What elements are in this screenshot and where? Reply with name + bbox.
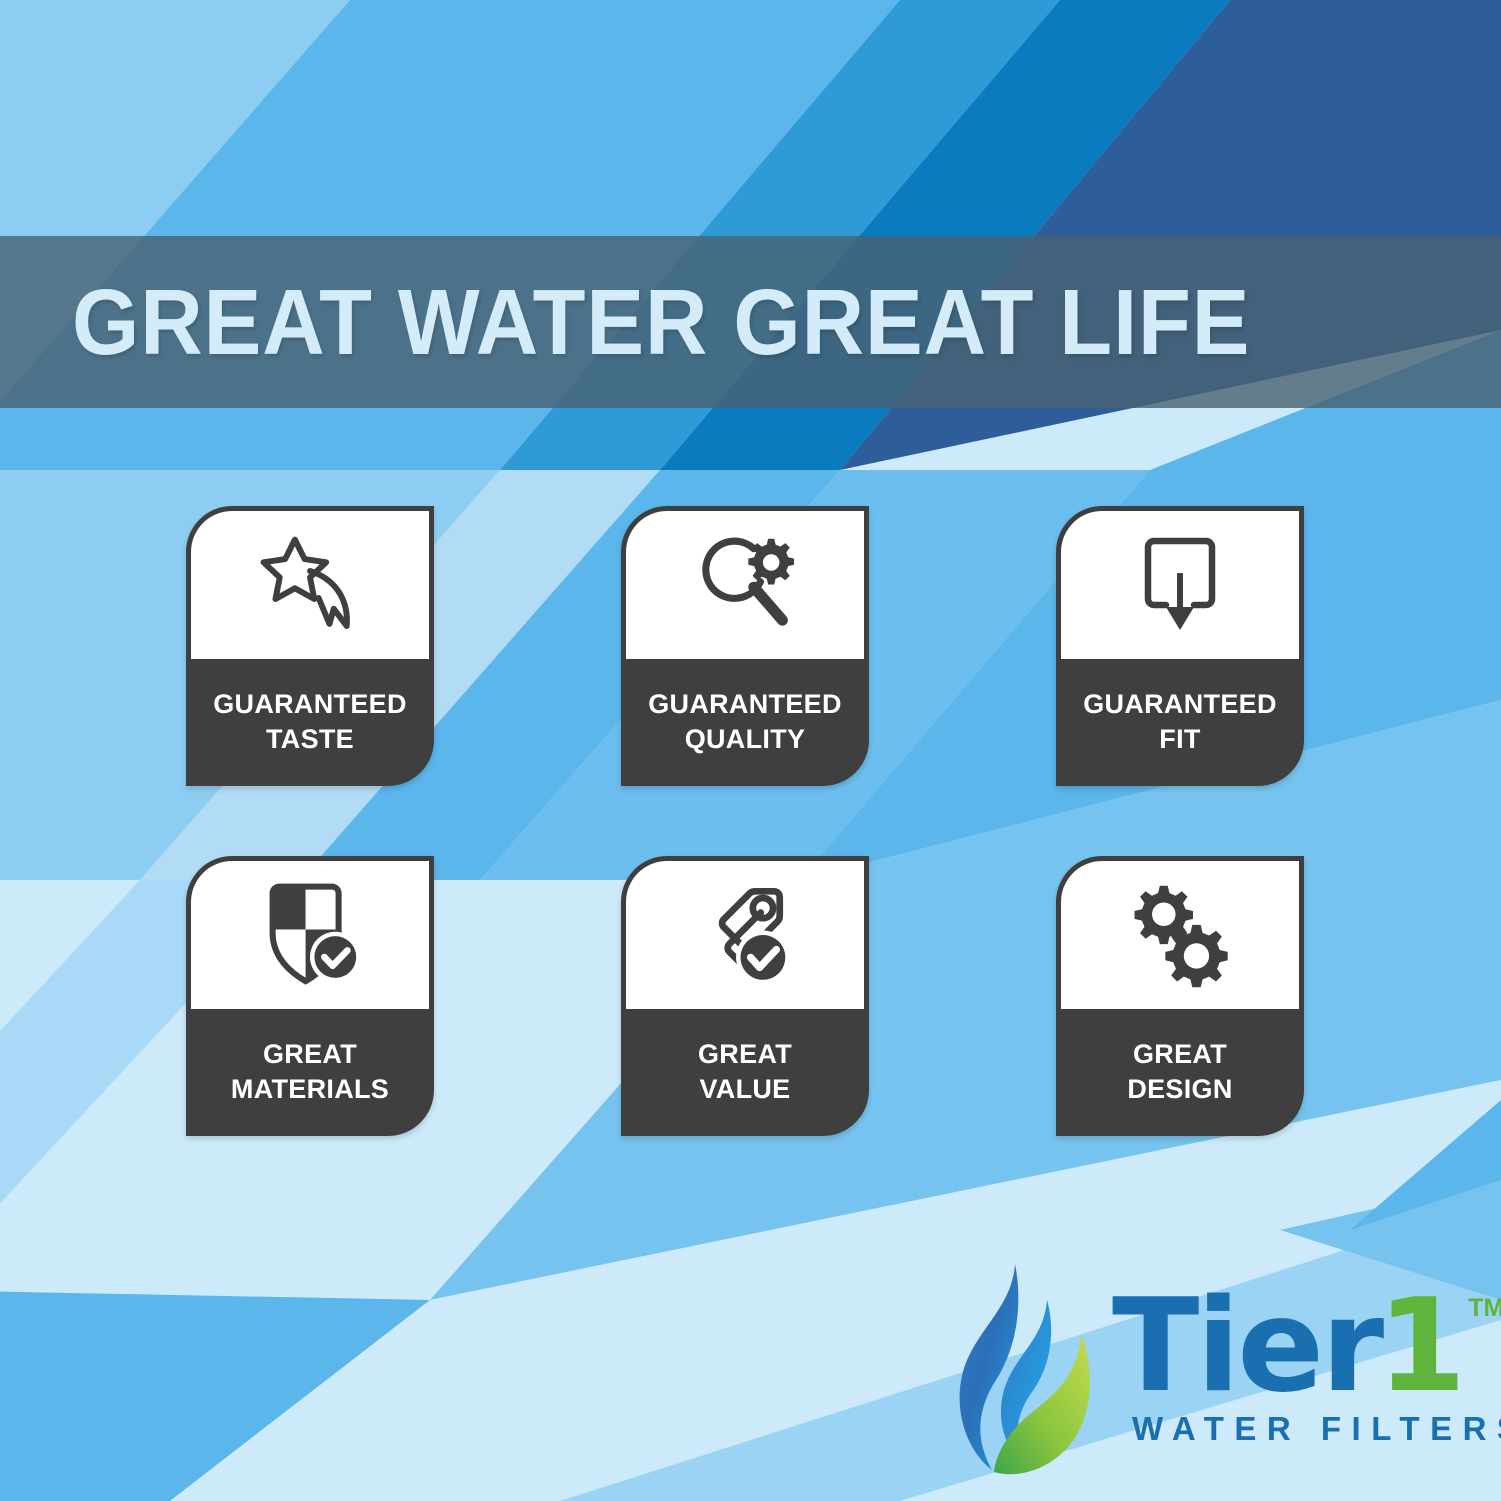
card-label: GREAT MATERIALS [231, 1037, 389, 1107]
card-label: GUARANTEED FIT [1083, 687, 1277, 757]
card-label-container: GUARANTEED FIT [1056, 659, 1304, 786]
card-label-container: GUARANTEED QUALITY [621, 659, 869, 786]
card-label: GUARANTEED QUALITY [648, 687, 842, 757]
card-label-line1: GREAT [263, 1039, 357, 1069]
logo-tagline: WATER FILTERS [1132, 1410, 1501, 1448]
card-icon-container [1061, 861, 1299, 1009]
card-label-line1: GREAT [698, 1039, 792, 1069]
card-label-container: GREAT DESIGN [1056, 1009, 1304, 1136]
feature-card-great-design[interactable]: GREAT DESIGN [1056, 856, 1304, 1136]
card-label: GREAT VALUE [698, 1037, 792, 1107]
card-icon-container [626, 511, 864, 659]
card-label-line2: TASTE [266, 724, 354, 754]
logo-word-tier: Tier [1112, 1288, 1381, 1406]
shooting-star-icon [256, 531, 364, 639]
brand-logo[interactable]: Tier 1 TM WATER FILTERS [952, 1258, 1452, 1490]
card-icon-container [626, 861, 864, 1009]
shield-check-icon [255, 880, 365, 990]
card-label-line2: MATERIALS [231, 1074, 389, 1104]
logo-wordmark: Tier 1 TM WATER FILTERS [1112, 1258, 1501, 1448]
insert-arrow-icon [1130, 531, 1230, 639]
card-icon-container [191, 511, 429, 659]
feature-card-great-materials[interactable]: GREAT MATERIALS [186, 856, 434, 1136]
page-title: GREAT WATER GREAT LIFE [72, 276, 1250, 369]
logo-word-row: Tier 1 TM [1112, 1288, 1501, 1406]
feature-cards-grid: GUARANTEED TASTE GUARANTEED QUALITY [186, 506, 1336, 1136]
card-icon-container [1061, 511, 1299, 659]
card-label-line1: GUARANTEED [1083, 689, 1277, 719]
headline-banner: GREAT WATER GREAT LIFE [0, 236, 1501, 408]
card-label-line1: GUARANTEED [213, 689, 407, 719]
card-label-container: GREAT MATERIALS [186, 1009, 434, 1136]
feature-card-guaranteed-quality[interactable]: GUARANTEED QUALITY [621, 506, 869, 786]
card-label: GUARANTEED TASTE [213, 687, 407, 757]
card-label-line2: VALUE [699, 1074, 790, 1104]
price-tag-check-icon [689, 879, 801, 991]
card-label-line2: FIT [1159, 724, 1200, 754]
card-icon-container [191, 861, 429, 1009]
logo-word-one: 1 [1377, 1288, 1466, 1406]
card-label: GREAT DESIGN [1127, 1037, 1232, 1107]
feature-card-guaranteed-taste[interactable]: GUARANTEED TASTE [186, 506, 434, 786]
magnifier-gear-icon [690, 530, 800, 640]
card-label-line1: GUARANTEED [648, 689, 842, 719]
card-label-line1: GREAT [1133, 1039, 1227, 1069]
card-label-container: GREAT VALUE [621, 1009, 869, 1136]
feature-card-guaranteed-fit[interactable]: GUARANTEED FIT [1056, 506, 1304, 786]
card-label-line2: QUALITY [685, 724, 806, 754]
two-gears-icon [1124, 879, 1236, 991]
card-label-line2: DESIGN [1127, 1074, 1232, 1104]
trademark-symbol: TM [1468, 1296, 1501, 1321]
feature-card-great-value[interactable]: GREAT VALUE [621, 856, 869, 1136]
card-label-container: GUARANTEED TASTE [186, 659, 434, 786]
water-drop-leaf-icon [952, 1258, 1102, 1490]
